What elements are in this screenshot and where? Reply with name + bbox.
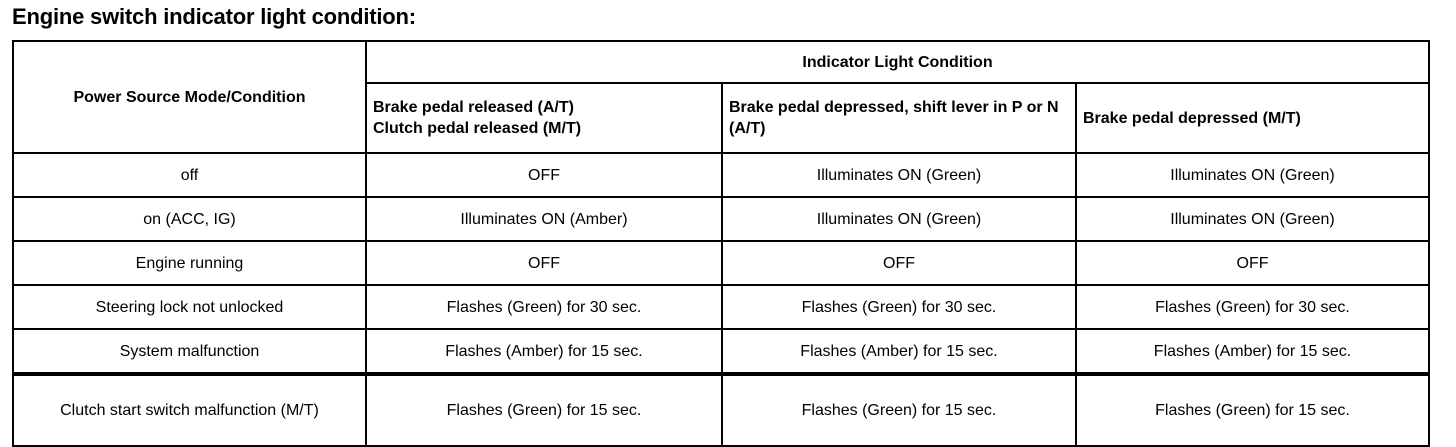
row-value-col3: OFF (1076, 241, 1429, 285)
header-col-brake-depressed-mt: Brake pedal depressed (M/T) (1076, 83, 1429, 153)
page-root: Engine switch indicator light condition:… (0, 0, 1456, 424)
row-value-col1: Flashes (Green) for 30 sec. (366, 285, 722, 329)
row-value-col1: Illuminates ON (Amber) (366, 197, 722, 241)
row-value-col2: Illuminates ON (Green) (722, 197, 1076, 241)
header-power-source-mode: Power Source Mode/Condition (13, 41, 366, 153)
row-mode-label: off (13, 153, 366, 197)
table-row: Clutch start switch malfunction (M/T) Fl… (13, 374, 1429, 446)
row-mode-label: on (ACC, IG) (13, 197, 366, 241)
row-value-col1: Flashes (Green) for 15 sec. (366, 374, 722, 446)
row-mode-label: Steering lock not unlocked (13, 285, 366, 329)
table-header-row-group: Power Source Mode/Condition Indicator Li… (13, 41, 1429, 83)
row-value-col3: Illuminates ON (Green) (1076, 197, 1429, 241)
row-value-col2: OFF (722, 241, 1076, 285)
row-value-col3: Flashes (Green) for 30 sec. (1076, 285, 1429, 329)
table-row: System malfunction Flashes (Amber) for 1… (13, 329, 1429, 374)
indicator-light-table-wrapper: Power Source Mode/Condition Indicator Li… (12, 40, 1428, 404)
table-row: Steering lock not unlocked Flashes (Gree… (13, 285, 1429, 329)
table-row: Engine running OFF OFF OFF (13, 241, 1429, 285)
row-mode-label: Engine running (13, 241, 366, 285)
row-value-col2: Flashes (Amber) for 15 sec. (722, 329, 1076, 374)
row-mode-label: Clutch start switch malfunction (M/T) (13, 374, 366, 446)
header-col-brake-depressed-at: Brake pedal depressed, shift lever in P … (722, 83, 1076, 153)
page-title: Engine switch indicator light condition: (12, 2, 416, 32)
header-col-brake-released: Brake pedal released (A/T) Clutch pedal … (366, 83, 722, 153)
row-value-col2: Flashes (Green) for 15 sec. (722, 374, 1076, 446)
row-value-col1: OFF (366, 241, 722, 285)
row-value-col1: Flashes (Amber) for 15 sec. (366, 329, 722, 374)
row-mode-label: System malfunction (13, 329, 366, 374)
table-row: on (ACC, IG) Illuminates ON (Amber) Illu… (13, 197, 1429, 241)
table-row: off OFF Illuminates ON (Green) Illuminat… (13, 153, 1429, 197)
row-value-col2: Illuminates ON (Green) (722, 153, 1076, 197)
row-value-col1: OFF (366, 153, 722, 197)
row-value-col3: Illuminates ON (Green) (1076, 153, 1429, 197)
row-value-col2: Flashes (Green) for 30 sec. (722, 285, 1076, 329)
indicator-light-condition-table: Power Source Mode/Condition Indicator Li… (12, 40, 1430, 447)
row-value-col3: Flashes (Green) for 15 sec. (1076, 374, 1429, 446)
row-value-col3: Flashes (Amber) for 15 sec. (1076, 329, 1429, 374)
header-indicator-light-condition: Indicator Light Condition (366, 41, 1429, 83)
